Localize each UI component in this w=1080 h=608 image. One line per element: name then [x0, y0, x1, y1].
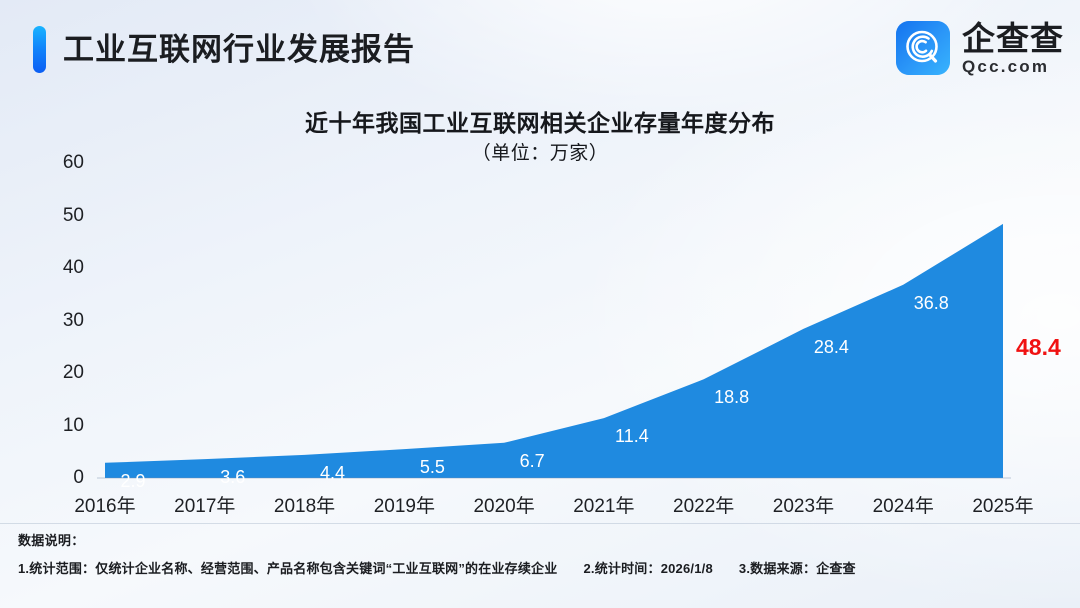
footer-note-1: 1.统计范围：仅统计企业名称、经营范围、产品名称包含关键词“工业互联网”的在业存…	[18, 561, 557, 576]
x-axis-tick-label: 2018年	[274, 491, 335, 518]
footer-notes: 数据说明： 1.统计范围：仅统计企业名称、经营范围、产品名称包含关键词“工业互联…	[18, 530, 1062, 577]
footer-note-2: 2.统计时间：2026/1/8	[583, 561, 712, 576]
x-axis-tick-label: 2022年	[673, 491, 734, 518]
y-axis-tick-label: 20	[38, 362, 84, 384]
data-point-label: 4.4	[320, 463, 345, 484]
qcc-logo-icon	[896, 21, 950, 75]
y-axis-tick-label: 0	[38, 467, 84, 489]
data-point-label: 5.5	[420, 457, 445, 478]
y-axis-tick-label: 30	[38, 310, 84, 332]
y-axis-tick-label: 40	[38, 257, 84, 279]
x-axis-tick-label: 2017年	[174, 491, 235, 518]
x-axis-tick-label: 2023年	[773, 491, 834, 518]
x-axis-tick-label: 2020年	[473, 491, 534, 518]
data-point-label: 36.8	[914, 293, 949, 314]
y-axis-tick-label: 50	[38, 205, 84, 227]
footer-heading: 数据说明：	[18, 530, 1062, 549]
data-point-label: 18.8	[714, 387, 749, 408]
data-point-label: 11.4	[615, 426, 649, 447]
data-point-label: 28.4	[814, 337, 849, 358]
brand-logo[interactable]: 企查查 Qcc.com	[896, 21, 1064, 75]
brand-text: 企查查 Qcc.com	[962, 22, 1064, 75]
footer-divider	[0, 523, 1080, 524]
area-series	[105, 224, 1003, 478]
x-axis-tick-label: 2019年	[374, 491, 435, 518]
title-accent-bar	[33, 26, 46, 73]
x-axis-tick-label: 2025年	[972, 491, 1033, 518]
footer-note-row: 1.统计范围：仅统计企业名称、经营范围、产品名称包含关键词“工业互联网”的在业存…	[18, 558, 1062, 577]
brand-name-cn: 企查查	[962, 22, 1064, 55]
x-axis-tick-label: 2024年	[873, 491, 934, 518]
data-point-label: 3.6	[220, 467, 245, 488]
report-page: 工业互联网行业发展报告 企查查 Qcc.com	[0, 0, 1080, 608]
data-point-label: 2.9	[120, 471, 145, 492]
highlight-value-label: 48.4	[1016, 334, 1061, 361]
x-axis-tick-label: 2016年	[74, 491, 135, 518]
x-axis-tick-label: 2021年	[573, 491, 634, 518]
page-title: 工业互联网行业发展报告	[63, 26, 415, 73]
page-header: 工业互联网行业发展报告 企查查 Qcc.com	[0, 0, 1080, 98]
chart-title: 近十年我国工业互联网相关企业存量年度分布	[0, 104, 1080, 138]
brand-name-en: Qcc.com	[962, 58, 1064, 75]
chart-subtitle: （单位：万家）	[0, 138, 1080, 165]
footer-note-3: 3.数据来源：企查查	[739, 561, 856, 576]
y-axis-tick-label: 10	[38, 415, 84, 437]
data-point-label: 6.7	[520, 451, 545, 472]
